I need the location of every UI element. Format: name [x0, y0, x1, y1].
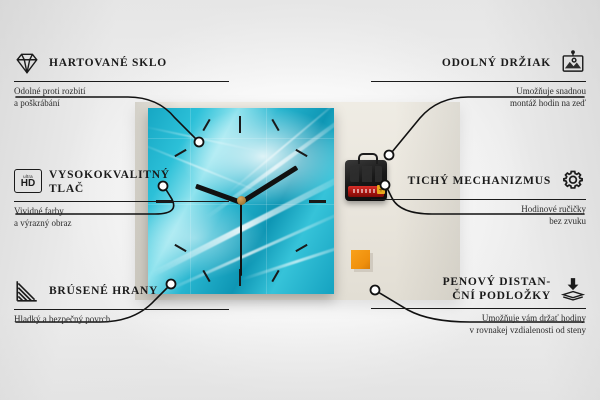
feature-silent-mechanism: TICHÝ MECHANIZMUS Hodinové ručičky bez z… [371, 168, 586, 227]
feature-title: ODOLNÝ DRŽIAK [442, 56, 551, 70]
ultra-hd-badge-main: HD [21, 179, 35, 189]
feature-hd-print: ultra HD VYSOKOKVALITNÝ TLAČ Vividné far… [14, 168, 229, 229]
feature-description-line: Umožňuje snadnou [371, 86, 586, 98]
ultra-hd-badge: ultra HD [14, 169, 42, 193]
clock-tick [271, 270, 279, 282]
picture-hanger-icon [560, 50, 586, 76]
feature-ground-edges: BRÚSENÉ HRANY Hladký a bezpečný povrch [14, 278, 229, 326]
feature-divider [14, 201, 229, 202]
clock-tick [174, 244, 186, 252]
feature-title: PENOVÝ DISTAN- ČNÍ PODLOŽKY [443, 275, 551, 303]
feature-description-line: montáž hodin na zeď [371, 98, 586, 110]
bevelled-edge-icon [14, 278, 40, 304]
feature-description-line: a poškrábání [14, 98, 229, 110]
feature-foam-spacers: PENOVÝ DISTAN- ČNÍ PODLOŽKY Umožňuje vám… [371, 275, 586, 336]
feature-description-line: Vividné farby [14, 206, 229, 218]
feature-description: Hladký a bezpečný povrch [14, 314, 229, 326]
feature-title-line: PENOVÝ DISTAN- [443, 276, 551, 288]
feature-header: BRÚSENÉ HRANY [14, 278, 229, 304]
feature-description: Vividné farby a výrazný obraz [14, 206, 229, 229]
feature-description: Umožňuje snadnou montáž hodin na zeď [371, 86, 586, 109]
foam-spacer-pad [351, 250, 370, 269]
feature-divider [14, 309, 229, 310]
movement-hanger-hook [358, 153, 378, 164]
feature-header: ODOLNÝ DRŽIAK [371, 50, 586, 76]
feature-description-line: v rovnakej vzdialenosti od steny [371, 325, 586, 337]
glass-streak [226, 108, 334, 195]
ultra-hd-icon: ultra HD [14, 169, 40, 195]
feature-durable-holder: ODOLNÝ DRŽIAK Umožňuje snadnou montáž ho… [371, 50, 586, 109]
feature-description-line: Umožňuje vám držať hodiny [371, 313, 586, 325]
clock-minute-hand [240, 165, 299, 204]
clock-second-hand [240, 202, 242, 276]
feature-divider [371, 199, 586, 200]
feature-divider [14, 81, 229, 82]
gear-icon [560, 168, 586, 194]
glass-reflection-line [266, 108, 267, 294]
clock-tick [239, 116, 241, 133]
clock-tick [309, 200, 326, 203]
clock-tick [271, 119, 279, 131]
glass-reflection-line [148, 138, 334, 139]
feature-title: TICHÝ MECHANIZMUS [408, 174, 551, 188]
feature-description-line: a výrazný obraz [14, 218, 229, 230]
feature-header: HARTOVANÉ SKLO [14, 50, 229, 76]
feature-description: Odolné proti rozbití a poškrábání [14, 86, 229, 109]
feature-header: PENOVÝ DISTAN- ČNÍ PODLOŽKY [371, 275, 586, 303]
clock-tick [295, 149, 307, 157]
clock-tick [202, 119, 210, 131]
feature-header: ultra HD VYSOKOKVALITNÝ TLAČ [14, 168, 229, 196]
feature-divider [371, 308, 586, 309]
feature-description-line: Hladký a bezpečný povrch [14, 314, 229, 326]
clock-hand-cap [237, 196, 246, 205]
feature-title-line: ČNÍ PODLOŽKY [452, 290, 551, 302]
feature-description: Umožňuje vám držať hodiny v rovnakej vzd… [371, 313, 586, 336]
stacked-pads-arrow-icon [560, 276, 586, 302]
feature-description-line: Hodinové ručičky [371, 204, 586, 216]
feature-description-line: bez zvuku [371, 216, 586, 228]
feature-title: HARTOVANÉ SKLO [49, 56, 167, 70]
feature-title: BRÚSENÉ HRANY [49, 284, 158, 298]
diamond-icon [14, 50, 40, 76]
clock-tick [295, 244, 307, 252]
feature-description: Hodinové ručičky bez zvuku [371, 204, 586, 227]
product-infographic: + [0, 0, 600, 400]
feature-description-line: Odolné proti rozbití [14, 86, 229, 98]
feature-tempered-glass: HARTOVANÉ SKLO Odolné proti rozbití a po… [14, 50, 229, 109]
clock-tick [174, 149, 186, 157]
feature-header: TICHÝ MECHANIZMUS [371, 168, 586, 194]
feature-divider [371, 81, 586, 82]
glass-streak [241, 238, 334, 281]
feature-title: VYSOKOKVALITNÝ TLAČ [49, 168, 201, 196]
